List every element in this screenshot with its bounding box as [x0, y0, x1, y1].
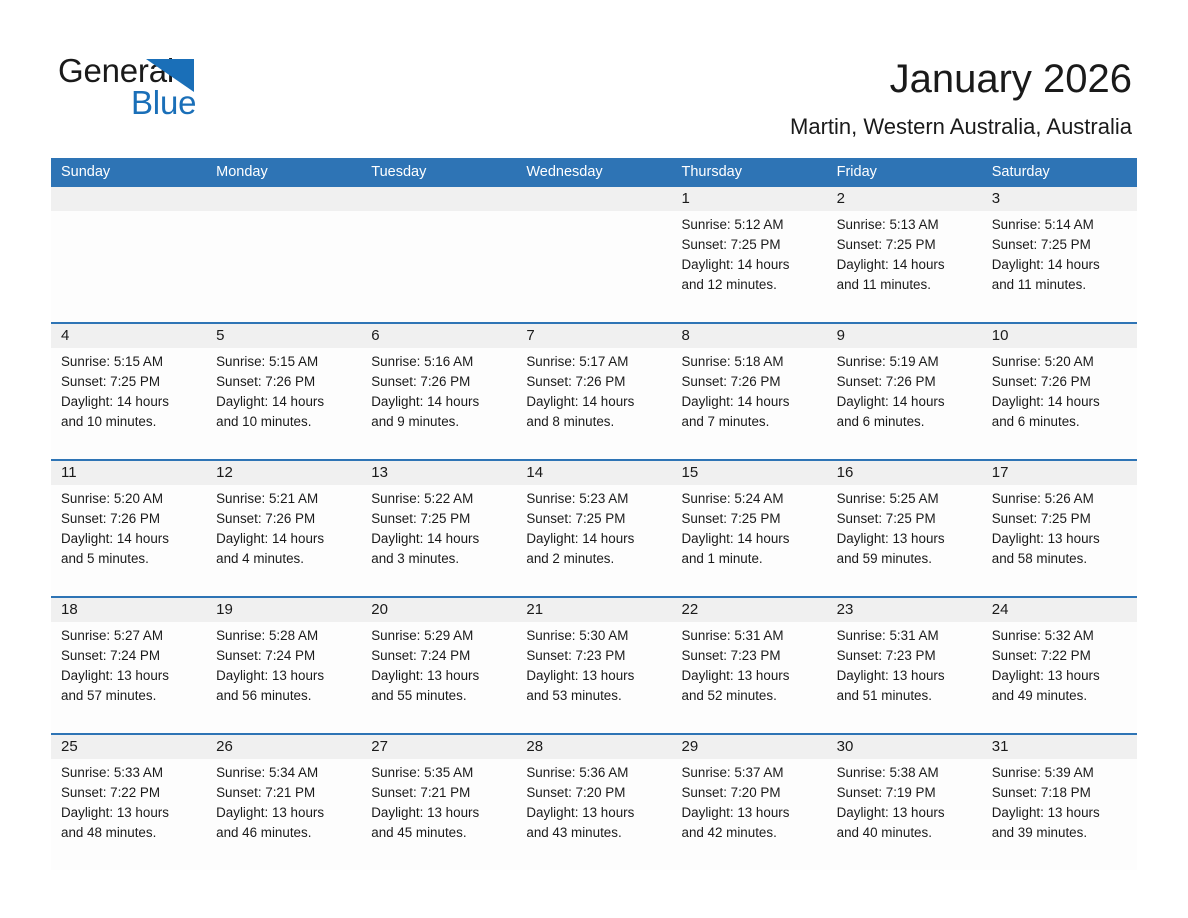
day-detail-line: Sunrise: 5:17 AM [526, 352, 663, 372]
day-detail-line: Sunrise: 5:16 AM [371, 352, 508, 372]
day-cell[interactable]: Sunrise: 5:19 AMSunset: 7:26 PMDaylight:… [827, 348, 982, 459]
day-number[interactable]: 7 [516, 324, 671, 348]
day-cell[interactable]: Sunrise: 5:35 AMSunset: 7:21 PMDaylight:… [361, 759, 516, 870]
day-detail-line: Daylight: 13 hours [371, 803, 508, 823]
day-number[interactable]: 17 [982, 461, 1137, 485]
day-number-empty [206, 187, 361, 211]
day-number[interactable]: 12 [206, 461, 361, 485]
calendar-week-row: 123Sunrise: 5:12 AMSunset: 7:25 PMDaylig… [51, 187, 1137, 322]
day-number[interactable]: 1 [672, 187, 827, 211]
day-cell[interactable]: Sunrise: 5:15 AMSunset: 7:25 PMDaylight:… [51, 348, 206, 459]
day-detail-line: Daylight: 14 hours [682, 529, 819, 549]
day-detail-line: Sunrise: 5:37 AM [682, 763, 819, 783]
day-detail-line: Daylight: 13 hours [61, 803, 198, 823]
day-number[interactable]: 5 [206, 324, 361, 348]
day-detail-line: Sunset: 7:22 PM [992, 646, 1129, 666]
day-detail-line: Daylight: 14 hours [216, 529, 353, 549]
location-subtitle: Martin, Western Australia, Australia [790, 113, 1132, 141]
day-detail-line: Sunrise: 5:25 AM [837, 489, 974, 509]
week-detail-band: Sunrise: 5:15 AMSunset: 7:25 PMDaylight:… [51, 348, 1137, 459]
day-detail-line: Sunrise: 5:31 AM [837, 626, 974, 646]
day-detail-line: Sunrise: 5:14 AM [992, 215, 1129, 235]
day-detail-line: Sunset: 7:25 PM [837, 235, 974, 255]
day-number[interactable]: 30 [827, 735, 982, 759]
day-detail-line: Sunset: 7:26 PM [216, 509, 353, 529]
day-detail-line: Daylight: 13 hours [682, 803, 819, 823]
week-date-number-band: 123 [51, 187, 1137, 211]
day-detail-line: Sunset: 7:21 PM [216, 783, 353, 803]
day-detail-line: Sunset: 7:26 PM [837, 372, 974, 392]
day-detail-line: Sunset: 7:18 PM [992, 783, 1129, 803]
day-cell[interactable]: Sunrise: 5:27 AMSunset: 7:24 PMDaylight:… [51, 622, 206, 733]
day-detail-line: Sunrise: 5:18 AM [682, 352, 819, 372]
day-number[interactable]: 21 [516, 598, 671, 622]
day-cell[interactable]: Sunrise: 5:26 AMSunset: 7:25 PMDaylight:… [982, 485, 1137, 596]
day-cell[interactable]: Sunrise: 5:33 AMSunset: 7:22 PMDaylight:… [51, 759, 206, 870]
weekday-header-sunday: Sunday [51, 158, 206, 187]
day-detail-line: Sunset: 7:21 PM [371, 783, 508, 803]
day-number[interactable]: 16 [827, 461, 982, 485]
day-number[interactable]: 14 [516, 461, 671, 485]
day-cell[interactable]: Sunrise: 5:31 AMSunset: 7:23 PMDaylight:… [827, 622, 982, 733]
day-detail-line: Sunset: 7:25 PM [682, 235, 819, 255]
day-detail-line: Daylight: 14 hours [61, 529, 198, 549]
weekday-header-monday: Monday [206, 158, 361, 187]
day-cell[interactable]: Sunrise: 5:30 AMSunset: 7:23 PMDaylight:… [516, 622, 671, 733]
day-detail-line: and 59 minutes. [837, 549, 974, 569]
day-detail-line: Daylight: 14 hours [992, 392, 1129, 412]
day-number[interactable]: 9 [827, 324, 982, 348]
day-detail-line: Daylight: 13 hours [992, 529, 1129, 549]
day-detail-line: Sunrise: 5:33 AM [61, 763, 198, 783]
day-number[interactable]: 25 [51, 735, 206, 759]
day-number[interactable]: 2 [827, 187, 982, 211]
day-detail-line: and 55 minutes. [371, 686, 508, 706]
day-detail-line: and 45 minutes. [371, 823, 508, 843]
day-detail-line: Daylight: 14 hours [526, 529, 663, 549]
calendar-page: General Blue January 2026 Martin, Wester… [0, 0, 1188, 918]
day-detail-line: Sunrise: 5:26 AM [992, 489, 1129, 509]
day-detail-line: and 49 minutes. [992, 686, 1129, 706]
day-detail-line: Sunrise: 5:21 AM [216, 489, 353, 509]
day-detail-line: Daylight: 14 hours [992, 255, 1129, 275]
day-cell-empty [51, 211, 206, 322]
day-detail-line: and 40 minutes. [837, 823, 974, 843]
day-number[interactable]: 15 [672, 461, 827, 485]
day-detail-line: and 52 minutes. [682, 686, 819, 706]
day-detail-line: Daylight: 13 hours [837, 803, 974, 823]
day-detail-line: and 43 minutes. [526, 823, 663, 843]
day-detail-line: and 46 minutes. [216, 823, 353, 843]
day-detail-line: Daylight: 14 hours [837, 392, 974, 412]
day-number[interactable]: 3 [982, 187, 1137, 211]
day-detail-line: Sunset: 7:23 PM [682, 646, 819, 666]
day-detail-line: and 8 minutes. [526, 412, 663, 432]
day-number[interactable]: 18 [51, 598, 206, 622]
day-detail-line: Daylight: 14 hours [682, 392, 819, 412]
day-detail-line: Sunrise: 5:20 AM [992, 352, 1129, 372]
day-detail-line: and 3 minutes. [371, 549, 508, 569]
day-detail-line: Sunset: 7:26 PM [371, 372, 508, 392]
day-cell-empty [206, 211, 361, 322]
day-cell[interactable]: Sunrise: 5:32 AMSunset: 7:22 PMDaylight:… [982, 622, 1137, 733]
weekday-header-saturday: Saturday [982, 158, 1137, 187]
day-number[interactable]: 28 [516, 735, 671, 759]
day-detail-line: and 11 minutes. [837, 275, 974, 295]
day-number-empty [51, 187, 206, 211]
weekday-header-tuesday: Tuesday [361, 158, 516, 187]
day-detail-line: and 53 minutes. [526, 686, 663, 706]
week-date-number-band: 45678910 [51, 324, 1137, 348]
day-number-empty [361, 187, 516, 211]
day-detail-line: Sunrise: 5:39 AM [992, 763, 1129, 783]
day-detail-line: and 10 minutes. [216, 412, 353, 432]
day-detail-line: Sunrise: 5:22 AM [371, 489, 508, 509]
day-cell[interactable]: Sunrise: 5:39 AMSunset: 7:18 PMDaylight:… [982, 759, 1137, 870]
day-detail-line: Sunset: 7:20 PM [682, 783, 819, 803]
day-detail-line: and 2 minutes. [526, 549, 663, 569]
day-cell[interactable]: Sunrise: 5:18 AMSunset: 7:26 PMDaylight:… [672, 348, 827, 459]
day-detail-line: Sunset: 7:26 PM [992, 372, 1129, 392]
day-detail-line: Sunset: 7:25 PM [371, 509, 508, 529]
day-detail-line: Sunrise: 5:23 AM [526, 489, 663, 509]
page-title: January 2026 [890, 55, 1132, 103]
day-detail-line: Daylight: 13 hours [682, 666, 819, 686]
day-detail-line: Sunset: 7:25 PM [837, 509, 974, 529]
day-detail-line: Sunrise: 5:38 AM [837, 763, 974, 783]
day-detail-line: Sunrise: 5:24 AM [682, 489, 819, 509]
weekday-header-thursday: Thursday [672, 158, 827, 187]
general-blue-logo[interactable]: General Blue [58, 52, 358, 132]
day-detail-line: Sunset: 7:25 PM [526, 509, 663, 529]
day-cell[interactable]: Sunrise: 5:34 AMSunset: 7:21 PMDaylight:… [206, 759, 361, 870]
day-number[interactable]: 10 [982, 324, 1137, 348]
day-cell[interactable]: Sunrise: 5:31 AMSunset: 7:23 PMDaylight:… [672, 622, 827, 733]
day-detail-line: and 7 minutes. [682, 412, 819, 432]
day-detail-line: Daylight: 14 hours [216, 392, 353, 412]
day-number[interactable]: 24 [982, 598, 1137, 622]
day-number[interactable]: 19 [206, 598, 361, 622]
day-detail-line: and 5 minutes. [61, 549, 198, 569]
day-detail-line: Sunset: 7:24 PM [371, 646, 508, 666]
day-detail-line: Sunrise: 5:32 AM [992, 626, 1129, 646]
weekday-header-friday: Friday [827, 158, 982, 187]
day-detail-line: Daylight: 13 hours [837, 666, 974, 686]
day-detail-line: Sunset: 7:26 PM [61, 509, 198, 529]
day-detail-line: Sunset: 7:24 PM [216, 646, 353, 666]
day-number[interactable]: 26 [206, 735, 361, 759]
day-detail-line: Daylight: 14 hours [682, 255, 819, 275]
day-detail-line: Daylight: 13 hours [837, 529, 974, 549]
day-cell[interactable]: Sunrise: 5:17 AMSunset: 7:26 PMDaylight:… [516, 348, 671, 459]
day-cell[interactable]: Sunrise: 5:36 AMSunset: 7:20 PMDaylight:… [516, 759, 671, 870]
day-detail-line: Daylight: 13 hours [216, 666, 353, 686]
day-detail-line: Daylight: 14 hours [371, 392, 508, 412]
day-detail-line: Sunrise: 5:13 AM [837, 215, 974, 235]
day-detail-line: Sunset: 7:25 PM [992, 509, 1129, 529]
day-detail-line: Sunset: 7:24 PM [61, 646, 198, 666]
day-detail-line: Daylight: 14 hours [837, 255, 974, 275]
day-cell-empty [516, 211, 671, 322]
day-detail-line: and 57 minutes. [61, 686, 198, 706]
day-number[interactable]: 27 [361, 735, 516, 759]
day-detail-line: Sunset: 7:19 PM [837, 783, 974, 803]
day-cell[interactable]: Sunrise: 5:22 AMSunset: 7:25 PMDaylight:… [361, 485, 516, 596]
day-detail-line: Sunrise: 5:31 AM [682, 626, 819, 646]
day-detail-line: Sunrise: 5:30 AM [526, 626, 663, 646]
day-detail-line: Sunrise: 5:27 AM [61, 626, 198, 646]
day-detail-line: and 51 minutes. [837, 686, 974, 706]
day-detail-line: Sunrise: 5:34 AM [216, 763, 353, 783]
week-date-number-band: 11121314151617 [51, 461, 1137, 485]
day-detail-line: Sunrise: 5:19 AM [837, 352, 974, 372]
week-detail-band: Sunrise: 5:27 AMSunset: 7:24 PMDaylight:… [51, 622, 1137, 733]
week-detail-band: Sunrise: 5:12 AMSunset: 7:25 PMDaylight:… [51, 211, 1137, 322]
calendar-week-row: 25262728293031Sunrise: 5:33 AMSunset: 7:… [51, 733, 1137, 870]
day-detail-line: and 58 minutes. [992, 549, 1129, 569]
day-cell[interactable]: Sunrise: 5:24 AMSunset: 7:25 PMDaylight:… [672, 485, 827, 596]
weekday-header-row: SundayMondayTuesdayWednesdayThursdayFrid… [51, 158, 1137, 187]
day-number-empty [516, 187, 671, 211]
day-detail-line: and 6 minutes. [837, 412, 974, 432]
calendar-weeks: 123Sunrise: 5:12 AMSunset: 7:25 PMDaylig… [51, 187, 1137, 870]
day-cell[interactable]: Sunrise: 5:25 AMSunset: 7:25 PMDaylight:… [827, 485, 982, 596]
day-detail-line: and 10 minutes. [61, 412, 198, 432]
day-number[interactable]: 11 [51, 461, 206, 485]
day-detail-line: and 9 minutes. [371, 412, 508, 432]
calendar-week-row: 18192021222324Sunrise: 5:27 AMSunset: 7:… [51, 596, 1137, 733]
week-detail-band: Sunrise: 5:20 AMSunset: 7:26 PMDaylight:… [51, 485, 1137, 596]
day-detail-line: Daylight: 13 hours [216, 803, 353, 823]
day-cell[interactable]: Sunrise: 5:37 AMSunset: 7:20 PMDaylight:… [672, 759, 827, 870]
day-cell[interactable]: Sunrise: 5:20 AMSunset: 7:26 PMDaylight:… [51, 485, 206, 596]
weekday-header-wednesday: Wednesday [516, 158, 671, 187]
day-detail-line: and 39 minutes. [992, 823, 1129, 843]
week-date-number-band: 18192021222324 [51, 598, 1137, 622]
day-detail-line: Sunrise: 5:35 AM [371, 763, 508, 783]
day-detail-line: Sunrise: 5:12 AM [682, 215, 819, 235]
day-detail-line: Daylight: 13 hours [61, 666, 198, 686]
day-cell[interactable]: Sunrise: 5:38 AMSunset: 7:19 PMDaylight:… [827, 759, 982, 870]
day-detail-line: Daylight: 14 hours [61, 392, 198, 412]
day-detail-line: Sunrise: 5:28 AM [216, 626, 353, 646]
day-detail-line: Daylight: 13 hours [526, 666, 663, 686]
day-cell[interactable]: Sunrise: 5:21 AMSunset: 7:26 PMDaylight:… [206, 485, 361, 596]
day-detail-line: Sunrise: 5:20 AM [61, 489, 198, 509]
day-number[interactable]: 6 [361, 324, 516, 348]
day-detail-line: Daylight: 13 hours [992, 803, 1129, 823]
day-detail-line: and 6 minutes. [992, 412, 1129, 432]
page-header: General Blue January 2026 Martin, Wester… [0, 0, 1188, 155]
day-cell[interactable]: Sunrise: 5:23 AMSunset: 7:25 PMDaylight:… [516, 485, 671, 596]
day-detail-line: Daylight: 13 hours [992, 666, 1129, 686]
day-number[interactable]: 23 [827, 598, 982, 622]
day-number[interactable]: 29 [672, 735, 827, 759]
week-detail-band: Sunrise: 5:33 AMSunset: 7:22 PMDaylight:… [51, 759, 1137, 870]
day-detail-line: and 42 minutes. [682, 823, 819, 843]
day-cell[interactable]: Sunrise: 5:12 AMSunset: 7:25 PMDaylight:… [672, 211, 827, 322]
day-detail-line: Daylight: 14 hours [371, 529, 508, 549]
day-detail-line: Sunset: 7:26 PM [526, 372, 663, 392]
day-detail-line: Sunrise: 5:36 AM [526, 763, 663, 783]
day-detail-line: Sunset: 7:26 PM [682, 372, 819, 392]
day-number[interactable]: 13 [361, 461, 516, 485]
day-number[interactable]: 31 [982, 735, 1137, 759]
day-detail-line: Sunset: 7:23 PM [837, 646, 974, 666]
day-cell[interactable]: Sunrise: 5:29 AMSunset: 7:24 PMDaylight:… [361, 622, 516, 733]
day-detail-line: Sunrise: 5:15 AM [216, 352, 353, 372]
day-detail-line: Sunset: 7:25 PM [992, 235, 1129, 255]
day-cell[interactable]: Sunrise: 5:14 AMSunset: 7:25 PMDaylight:… [982, 211, 1137, 322]
week-date-number-band: 25262728293031 [51, 735, 1137, 759]
day-detail-line: Sunrise: 5:29 AM [371, 626, 508, 646]
day-detail-line: Sunrise: 5:15 AM [61, 352, 198, 372]
day-cell[interactable]: Sunrise: 5:15 AMSunset: 7:26 PMDaylight:… [206, 348, 361, 459]
day-detail-line: and 56 minutes. [216, 686, 353, 706]
calendar-week-row: 11121314151617Sunrise: 5:20 AMSunset: 7:… [51, 459, 1137, 596]
day-detail-line: Sunset: 7:25 PM [682, 509, 819, 529]
day-detail-line: Daylight: 13 hours [526, 803, 663, 823]
day-number[interactable]: 22 [672, 598, 827, 622]
day-detail-line: Sunset: 7:23 PM [526, 646, 663, 666]
day-detail-line: Sunset: 7:25 PM [61, 372, 198, 392]
calendar-grid: SundayMondayTuesdayWednesdayThursdayFrid… [51, 158, 1137, 870]
day-detail-line: and 1 minute. [682, 549, 819, 569]
day-number[interactable]: 4 [51, 324, 206, 348]
day-cell[interactable]: Sunrise: 5:28 AMSunset: 7:24 PMDaylight:… [206, 622, 361, 733]
day-detail-line: Daylight: 14 hours [526, 392, 663, 412]
day-cell[interactable]: Sunrise: 5:16 AMSunset: 7:26 PMDaylight:… [361, 348, 516, 459]
day-detail-line: and 4 minutes. [216, 549, 353, 569]
calendar-week-row: 45678910Sunrise: 5:15 AMSunset: 7:25 PMD… [51, 322, 1137, 459]
day-detail-line: and 11 minutes. [992, 275, 1129, 295]
day-detail-line: Sunset: 7:20 PM [526, 783, 663, 803]
day-detail-line: and 12 minutes. [682, 275, 819, 295]
day-detail-line: Daylight: 13 hours [371, 666, 508, 686]
logo-text-blue: Blue [131, 84, 196, 122]
day-detail-line: Sunset: 7:26 PM [216, 372, 353, 392]
day-cell-empty [361, 211, 516, 322]
day-detail-line: Sunset: 7:22 PM [61, 783, 198, 803]
day-cell[interactable]: Sunrise: 5:13 AMSunset: 7:25 PMDaylight:… [827, 211, 982, 322]
day-cell[interactable]: Sunrise: 5:20 AMSunset: 7:26 PMDaylight:… [982, 348, 1137, 459]
day-number[interactable]: 8 [672, 324, 827, 348]
day-detail-line: and 48 minutes. [61, 823, 198, 843]
day-number[interactable]: 20 [361, 598, 516, 622]
